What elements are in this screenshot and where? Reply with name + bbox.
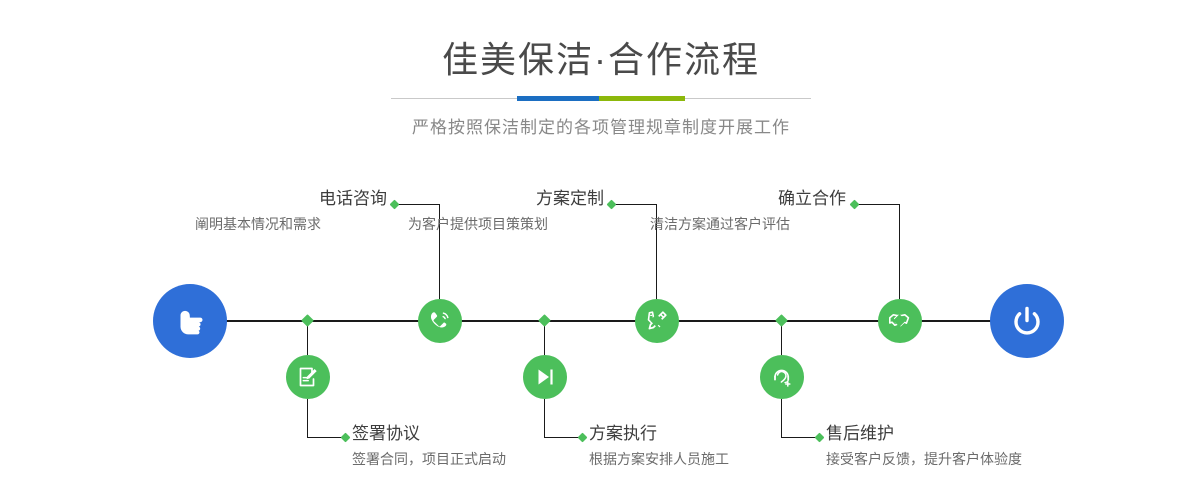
- process-timeline: 电话咨询 阐明基本情况和需求 签署协议 签署合同，项目正式启动: [0, 160, 1202, 502]
- step-2-elbow: [307, 437, 345, 438]
- step-2-label-marker: [341, 433, 351, 443]
- step-node-6[interactable]: [760, 355, 804, 399]
- timeline-end-node[interactable]: [990, 284, 1064, 358]
- step-4-axis-marker: [538, 314, 551, 327]
- step-6-label-marker: [815, 433, 825, 443]
- page-title: 佳美保洁·合作流程: [0, 0, 1202, 82]
- step-3-title: 方案定制: [408, 188, 604, 210]
- step-1-desc: 阐明基本情况和需求: [195, 210, 387, 235]
- step-5-stem-top: [899, 204, 900, 285]
- step-3-stem-upper: [656, 285, 657, 299]
- document-edit-icon: [295, 364, 321, 390]
- step-6-stem-upper: [781, 323, 782, 355]
- step-node-4[interactable]: [523, 355, 567, 399]
- step-2-desc: 签署合同，项目正式启动: [352, 445, 506, 470]
- step-2-stem-lower: [307, 399, 308, 437]
- step-4-stem-lower: [544, 399, 545, 437]
- step-label-5: 确立合作 清洁方案通过客户评估: [650, 188, 846, 235]
- step-1-stem-upper: [439, 285, 440, 299]
- step-5-desc: 清洁方案通过客户评估: [650, 210, 846, 235]
- step-4-label-marker: [578, 433, 588, 443]
- step-5-stem-upper: [899, 285, 900, 299]
- step-2-axis-marker: [301, 314, 314, 327]
- page-subtitle: 严格按照保洁制定的各项管理规章制度开展工作: [0, 101, 1202, 138]
- step-label-4: 方案执行 根据方案安排人员施工: [589, 423, 729, 470]
- step-4-elbow: [544, 437, 582, 438]
- play-next-icon: [532, 364, 558, 390]
- flowchart-page: 佳美保洁·合作流程 严格按照保洁制定的各项管理规章制度开展工作: [0, 0, 1202, 502]
- step-5-elbow: [856, 204, 900, 205]
- step-2-title: 签署协议: [352, 423, 506, 445]
- step-6-axis-marker: [775, 314, 788, 327]
- step-6-stem-lower: [781, 399, 782, 437]
- power-icon: [1007, 301, 1047, 341]
- step-label-2: 签署协议 签署合同，项目正式启动: [352, 423, 506, 470]
- step-5-label-marker: [850, 200, 860, 210]
- step-label-6: 售后维护 接受客户反馈，提升客户体验度: [826, 423, 1022, 470]
- step-label-3: 方案定制 为客户提供项目策策划: [408, 188, 604, 235]
- title-divider: [391, 96, 811, 101]
- step-6-title: 售后维护: [826, 423, 1022, 445]
- step-4-title: 方案执行: [589, 423, 729, 445]
- page-header: 佳美保洁·合作流程 严格按照保洁制定的各项管理规章制度开展工作: [0, 0, 1202, 138]
- step-4-stem-upper: [544, 323, 545, 355]
- divider-green-segment: [599, 96, 685, 101]
- step-3-label-marker: [607, 200, 617, 210]
- step-6-elbow: [781, 437, 819, 438]
- step-3-desc: 为客户提供项目策策划: [408, 210, 604, 235]
- hand-point-right-icon: [170, 301, 210, 341]
- step-node-2[interactable]: [286, 355, 330, 399]
- step-5-title: 确立合作: [650, 188, 846, 210]
- step-1-title: 电话咨询: [195, 188, 387, 210]
- step-1-label-marker: [390, 200, 400, 210]
- step-4-desc: 根据方案安排人员施工: [589, 445, 729, 470]
- step-label-1: 电话咨询 阐明基本情况和需求: [195, 188, 387, 235]
- divider-blue-segment: [517, 96, 599, 101]
- headset-add-icon: [769, 364, 795, 390]
- timeline-start-node[interactable]: [153, 284, 227, 358]
- step-2-stem-upper: [307, 323, 308, 355]
- step-6-desc: 接受客户反馈，提升客户体验度: [826, 445, 1022, 470]
